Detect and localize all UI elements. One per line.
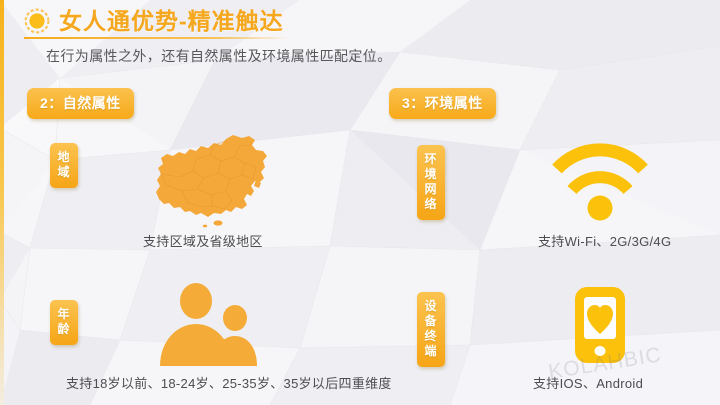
china-map-icon <box>152 133 278 231</box>
chip-char: 地 <box>55 150 73 165</box>
caption-age: 支持18岁以前、18-24岁、25-35岁、35岁以后四重维度 <box>66 373 392 392</box>
title-underline <box>24 37 290 39</box>
chip-char: 域 <box>55 165 73 180</box>
caption-region: 支持区域及省级地区 <box>143 231 263 250</box>
two-people-icon <box>155 283 267 367</box>
chip-device-terminal[interactable]: 设 备 终 端 <box>417 292 445 367</box>
caption-device: 支持IOS、Android <box>533 373 643 392</box>
page-title-row: 女人通优势-精准触达 <box>24 8 284 34</box>
chip-char: 设 <box>422 299 440 314</box>
chip-char: 终 <box>422 329 440 344</box>
chip-char: 年 <box>55 307 73 322</box>
chip-char: 备 <box>422 314 440 329</box>
chip-age[interactable]: 年 龄 <box>50 300 78 345</box>
section-badge-environment[interactable]: 3：环境属性 <box>389 88 496 119</box>
wifi-icon <box>548 142 652 222</box>
sunburst-icon <box>24 8 50 34</box>
caption-network: 支持Wi-Fi、2G/3G/4G <box>538 231 671 250</box>
chip-region[interactable]: 地 域 <box>50 143 78 188</box>
left-accent-strip <box>0 0 4 405</box>
chip-environment-network[interactable]: 环 境 网 络 <box>417 145 445 220</box>
section-badge-natural[interactable]: 2：自然属性 <box>27 88 134 119</box>
phone-heart-icon <box>571 284 629 366</box>
page-subtitle: 在行为属性之外，还有自然属性及环境属性匹配定位。 <box>46 46 392 66</box>
chip-char: 环 <box>422 152 440 167</box>
chip-char: 龄 <box>55 322 73 337</box>
chip-char: 境 <box>422 167 440 182</box>
slide-canvas: 女人通优势-精准触达 在行为属性之外，还有自然属性及环境属性匹配定位。 2：自然… <box>0 0 720 405</box>
chip-char: 络 <box>422 197 440 212</box>
page-title: 女人通优势-精准触达 <box>59 8 284 34</box>
chip-char: 网 <box>422 182 440 197</box>
chip-char: 端 <box>422 344 440 359</box>
